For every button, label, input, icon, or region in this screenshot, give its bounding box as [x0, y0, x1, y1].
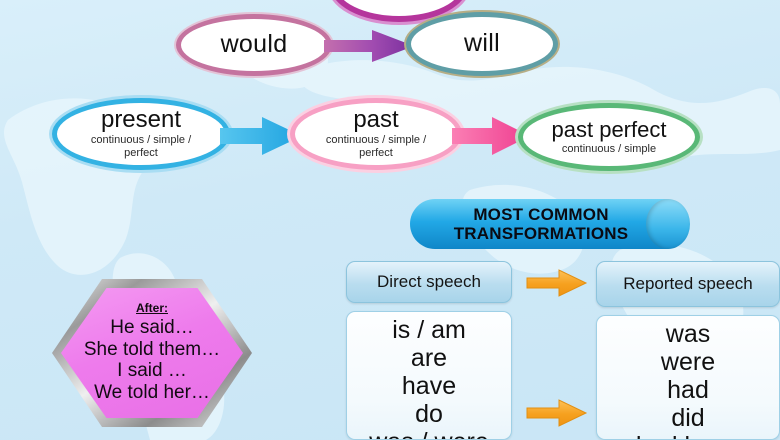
node-will-title: will	[464, 31, 500, 57]
node-past[interactable]: past continuous / simple / perfect	[290, 98, 462, 170]
direct-word: have	[402, 372, 456, 400]
direct-word: is / am	[392, 316, 466, 344]
hexagon-after-label: After:	[136, 302, 168, 316]
speech-transformation-table: Direct speech Reported speech is / am ar…	[346, 261, 780, 440]
node-past-subtitle-2: perfect	[359, 147, 393, 159]
hexagon-content: After: He said… She told them… I said … …	[52, 279, 252, 427]
reported-word: did	[671, 404, 704, 432]
hexagon-line-3: I said …	[117, 360, 187, 382]
hexagon-line-2: She told them…	[84, 339, 220, 361]
node-past-perfect-title: past perfect	[552, 119, 667, 141]
arrow-would-to-will	[322, 28, 418, 64]
header-direct-speech: Direct speech	[346, 261, 512, 303]
after-hexagon: After: He said… She told them… I said … …	[52, 279, 252, 427]
hexagon-line-4: We told her…	[94, 382, 210, 404]
header-reported-speech: Reported speech	[596, 261, 780, 307]
column-direct-speech-words: is / am are have do was / were	[346, 311, 512, 440]
arrow-direct-to-reported-header	[526, 269, 588, 297]
node-present[interactable]: present continuous / simple / perfect	[52, 98, 230, 170]
node-past-subtitle-1: continuous / simple /	[326, 134, 426, 146]
node-past-perfect-subtitle-1: continuous / simple	[562, 143, 656, 155]
node-present-subtitle-2: perfect	[124, 147, 158, 159]
banner-text: MOST COMMON TRANSFORMATIONS	[410, 199, 672, 249]
direct-word: was / were	[369, 428, 488, 440]
node-present-subtitle-1: continuous / simple /	[91, 134, 191, 146]
node-past-perfect[interactable]: past perfect continuous / simple	[518, 103, 700, 171]
reported-word: was	[666, 320, 710, 348]
banner-line-1: MOST COMMON	[473, 205, 608, 224]
arrow-direct-to-reported-words	[526, 399, 588, 427]
hexagon-line-1: He said…	[110, 317, 193, 339]
direct-word: are	[411, 344, 447, 372]
column-reported-speech-words: was were had did had been	[596, 315, 780, 440]
reported-word: were	[661, 348, 715, 376]
direct-word: do	[415, 400, 443, 428]
node-would-title: would	[221, 32, 288, 58]
node-will[interactable]: will	[406, 12, 558, 76]
infographic-canvas: would will present continuous / simple /…	[0, 0, 780, 440]
header-reported-speech-label: Reported speech	[623, 275, 752, 294]
header-direct-speech-label: Direct speech	[377, 273, 481, 292]
node-past-title: past	[353, 108, 398, 132]
node-would[interactable]: would	[176, 14, 332, 76]
reported-word: had been	[636, 432, 740, 440]
node-present-title: present	[101, 108, 181, 132]
reported-word: had	[667, 376, 709, 404]
most-common-transformations-banner: MOST COMMON TRANSFORMATIONS	[410, 199, 690, 249]
banner-line-2: TRANSFORMATIONS	[454, 224, 629, 243]
